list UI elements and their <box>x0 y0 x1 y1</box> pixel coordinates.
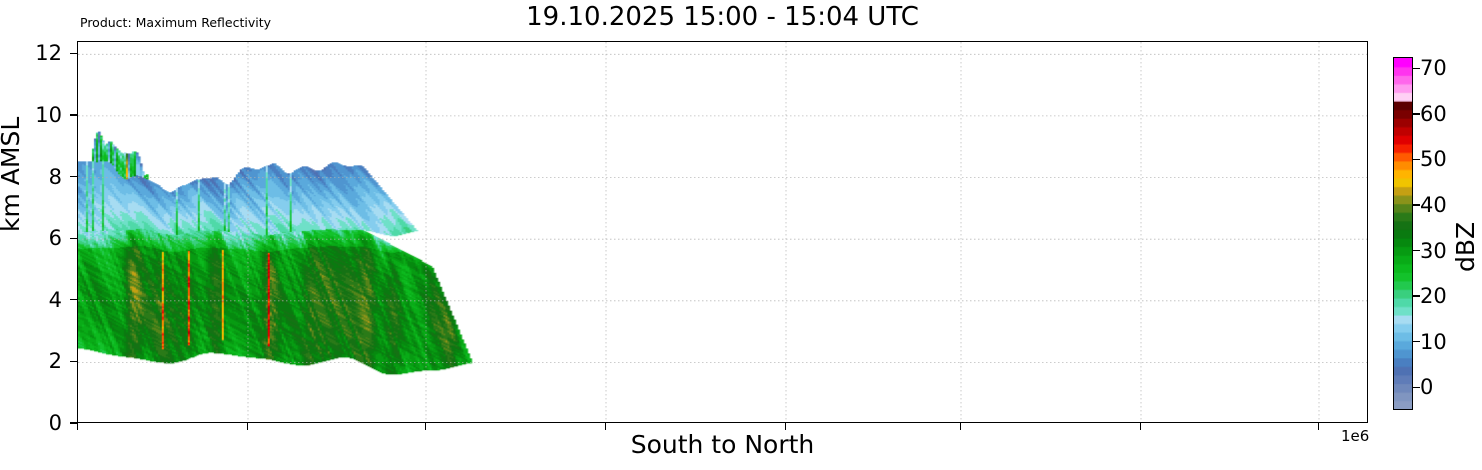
y-tick-label: 12 <box>35 41 62 65</box>
colorbar <box>1393 57 1413 410</box>
y-axis-label: km AMSL <box>0 117 25 232</box>
colorbar-tick-label: 30 <box>1420 239 1447 263</box>
y-tick-label: 4 <box>49 288 62 312</box>
y-tick-label: 10 <box>35 103 62 127</box>
colorbar-tick-mark <box>1413 68 1420 69</box>
x-tick-mark <box>425 423 426 430</box>
y-tick-label: 2 <box>49 349 62 373</box>
colorbar-gradient <box>1393 57 1413 410</box>
colorbar-tick-mark <box>1413 341 1420 342</box>
colorbar-label: dBZ <box>1451 222 1480 272</box>
colorbar-tick-mark <box>1413 113 1420 114</box>
x-tick-mark <box>1140 423 1141 430</box>
colorbar-tick-label: 50 <box>1420 147 1447 171</box>
colorbar-tick-label: 10 <box>1420 330 1447 354</box>
product-label: Product: Maximum Reflectivity <box>80 15 271 30</box>
colorbar-tick-label: 20 <box>1420 284 1447 308</box>
x-axis-label: South to North <box>77 430 1368 459</box>
y-tick-mark <box>70 299 77 300</box>
y-tick-mark <box>70 238 77 239</box>
y-tick-mark <box>70 114 77 115</box>
x-tick-mark <box>605 423 606 430</box>
x-tick-mark <box>77 423 78 430</box>
x-tick-mark <box>247 423 248 430</box>
colorbar-tick-mark <box>1413 250 1420 251</box>
x-tick-mark <box>960 423 961 430</box>
colorbar-tick-label: 0 <box>1420 375 1433 399</box>
colorbar-tick-mark <box>1413 159 1420 160</box>
colorbar-tick-mark <box>1413 295 1420 296</box>
colorbar-tick-label: 60 <box>1420 102 1447 126</box>
x-tick-mark <box>1318 423 1319 430</box>
reflectivity-heatmap-canvas <box>78 42 1367 422</box>
colorbar-tick-label: 40 <box>1420 193 1447 217</box>
y-tick-label: 6 <box>49 226 62 250</box>
y-tick-mark <box>70 422 77 423</box>
colorbar-tick-mark <box>1413 204 1420 205</box>
x-axis-offset-text: 1e6 <box>1341 427 1369 445</box>
y-tick-label: 0 <box>49 411 62 435</box>
y-tick-mark <box>70 176 77 177</box>
radar-cross-section-figure: 19.10.2025 15:00 - 15:04 UTC Product: Ma… <box>0 0 1482 470</box>
colorbar-tick-label: 70 <box>1420 56 1447 80</box>
plot-area <box>77 41 1368 423</box>
y-tick-label: 8 <box>49 165 62 189</box>
x-tick-mark <box>785 423 786 430</box>
y-tick-mark <box>70 361 77 362</box>
colorbar-tick-mark <box>1413 387 1420 388</box>
y-tick-mark <box>70 53 77 54</box>
